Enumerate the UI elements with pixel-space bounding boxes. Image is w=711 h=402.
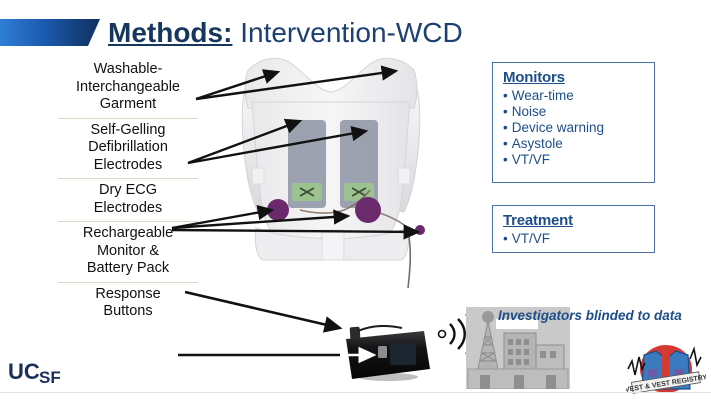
label-line: Dry ECG xyxy=(58,182,198,200)
ecg-electrode-left xyxy=(267,199,289,221)
label-line: Rechargeable xyxy=(58,225,198,243)
footer-divider xyxy=(0,392,711,393)
monitors-list: Wear-time Noise Device warning Asystole … xyxy=(503,88,646,168)
label-line: Electrodes xyxy=(58,157,198,175)
monitors-item: Asystole xyxy=(503,136,646,152)
monitors-item: VT/VF xyxy=(503,152,646,168)
label-line: Defibrillation xyxy=(58,139,198,157)
blinded-note: Investigators blinded to data xyxy=(498,308,698,328)
page-title-rest: Intervention-WCD xyxy=(232,17,462,48)
svg-text:UC: UC xyxy=(8,359,40,384)
label-defib-electrodes: Self-Gelling Defibrillation Electrodes xyxy=(58,118,198,179)
label-line: Self-Gelling xyxy=(58,122,198,140)
page-title-emphasis: Methods: xyxy=(108,17,232,48)
label-battery-pack: Rechargeable Monitor & Battery Pack xyxy=(58,221,198,282)
label-line: Interchangeable xyxy=(58,79,198,97)
treatment-panel: Treatment VT/VF xyxy=(492,205,655,253)
label-response-buttons: Response Buttons xyxy=(58,282,198,325)
monitors-item: Noise xyxy=(503,104,646,120)
slide-canvas: Methods: Intervention-WCD Washable- Inte… xyxy=(0,0,711,400)
vest-illustration xyxy=(212,50,450,290)
label-line: Buttons xyxy=(58,303,198,321)
wcd-vest-image xyxy=(212,50,450,290)
ucsf-logo: UC SF xyxy=(8,358,86,386)
vest-registry-logo: VEST & VEST REGISTRY xyxy=(626,341,706,397)
wcd-monitor-device xyxy=(338,325,434,383)
device-illustration xyxy=(338,325,434,383)
ecg-electrode-side xyxy=(415,225,425,235)
page-title: Methods: Intervention-WCD xyxy=(108,16,668,52)
label-line: Washable- xyxy=(58,61,198,79)
treatment-heading: Treatment xyxy=(503,212,646,229)
title-decoration-banner xyxy=(0,19,100,46)
label-washable-garment: Washable- Interchangeable Garment xyxy=(58,58,198,118)
ecg-electrode-right xyxy=(355,197,381,223)
svg-text:SF: SF xyxy=(39,368,61,386)
label-line: Garment xyxy=(58,96,198,114)
response-button xyxy=(378,346,387,358)
label-line: Battery Pack xyxy=(58,260,198,278)
label-line: Monitor & xyxy=(58,243,198,261)
treatment-item: VT/VF xyxy=(503,231,646,247)
label-line: Response xyxy=(58,286,198,304)
label-line: Electrodes xyxy=(58,200,198,218)
label-dry-ecg-electrodes: Dry ECG Electrodes xyxy=(58,178,198,221)
arrow-battery-pack xyxy=(185,292,340,328)
monitors-panel: Monitors Wear-time Noise Device warning … xyxy=(492,62,655,183)
treatment-list: VT/VF xyxy=(503,231,646,247)
monitors-heading: Monitors xyxy=(503,69,646,86)
monitors-item: Wear-time xyxy=(503,88,646,104)
annotation-label-column: Washable- Interchangeable Garment Self-G… xyxy=(58,58,198,325)
monitors-item: Device warning xyxy=(503,120,646,136)
